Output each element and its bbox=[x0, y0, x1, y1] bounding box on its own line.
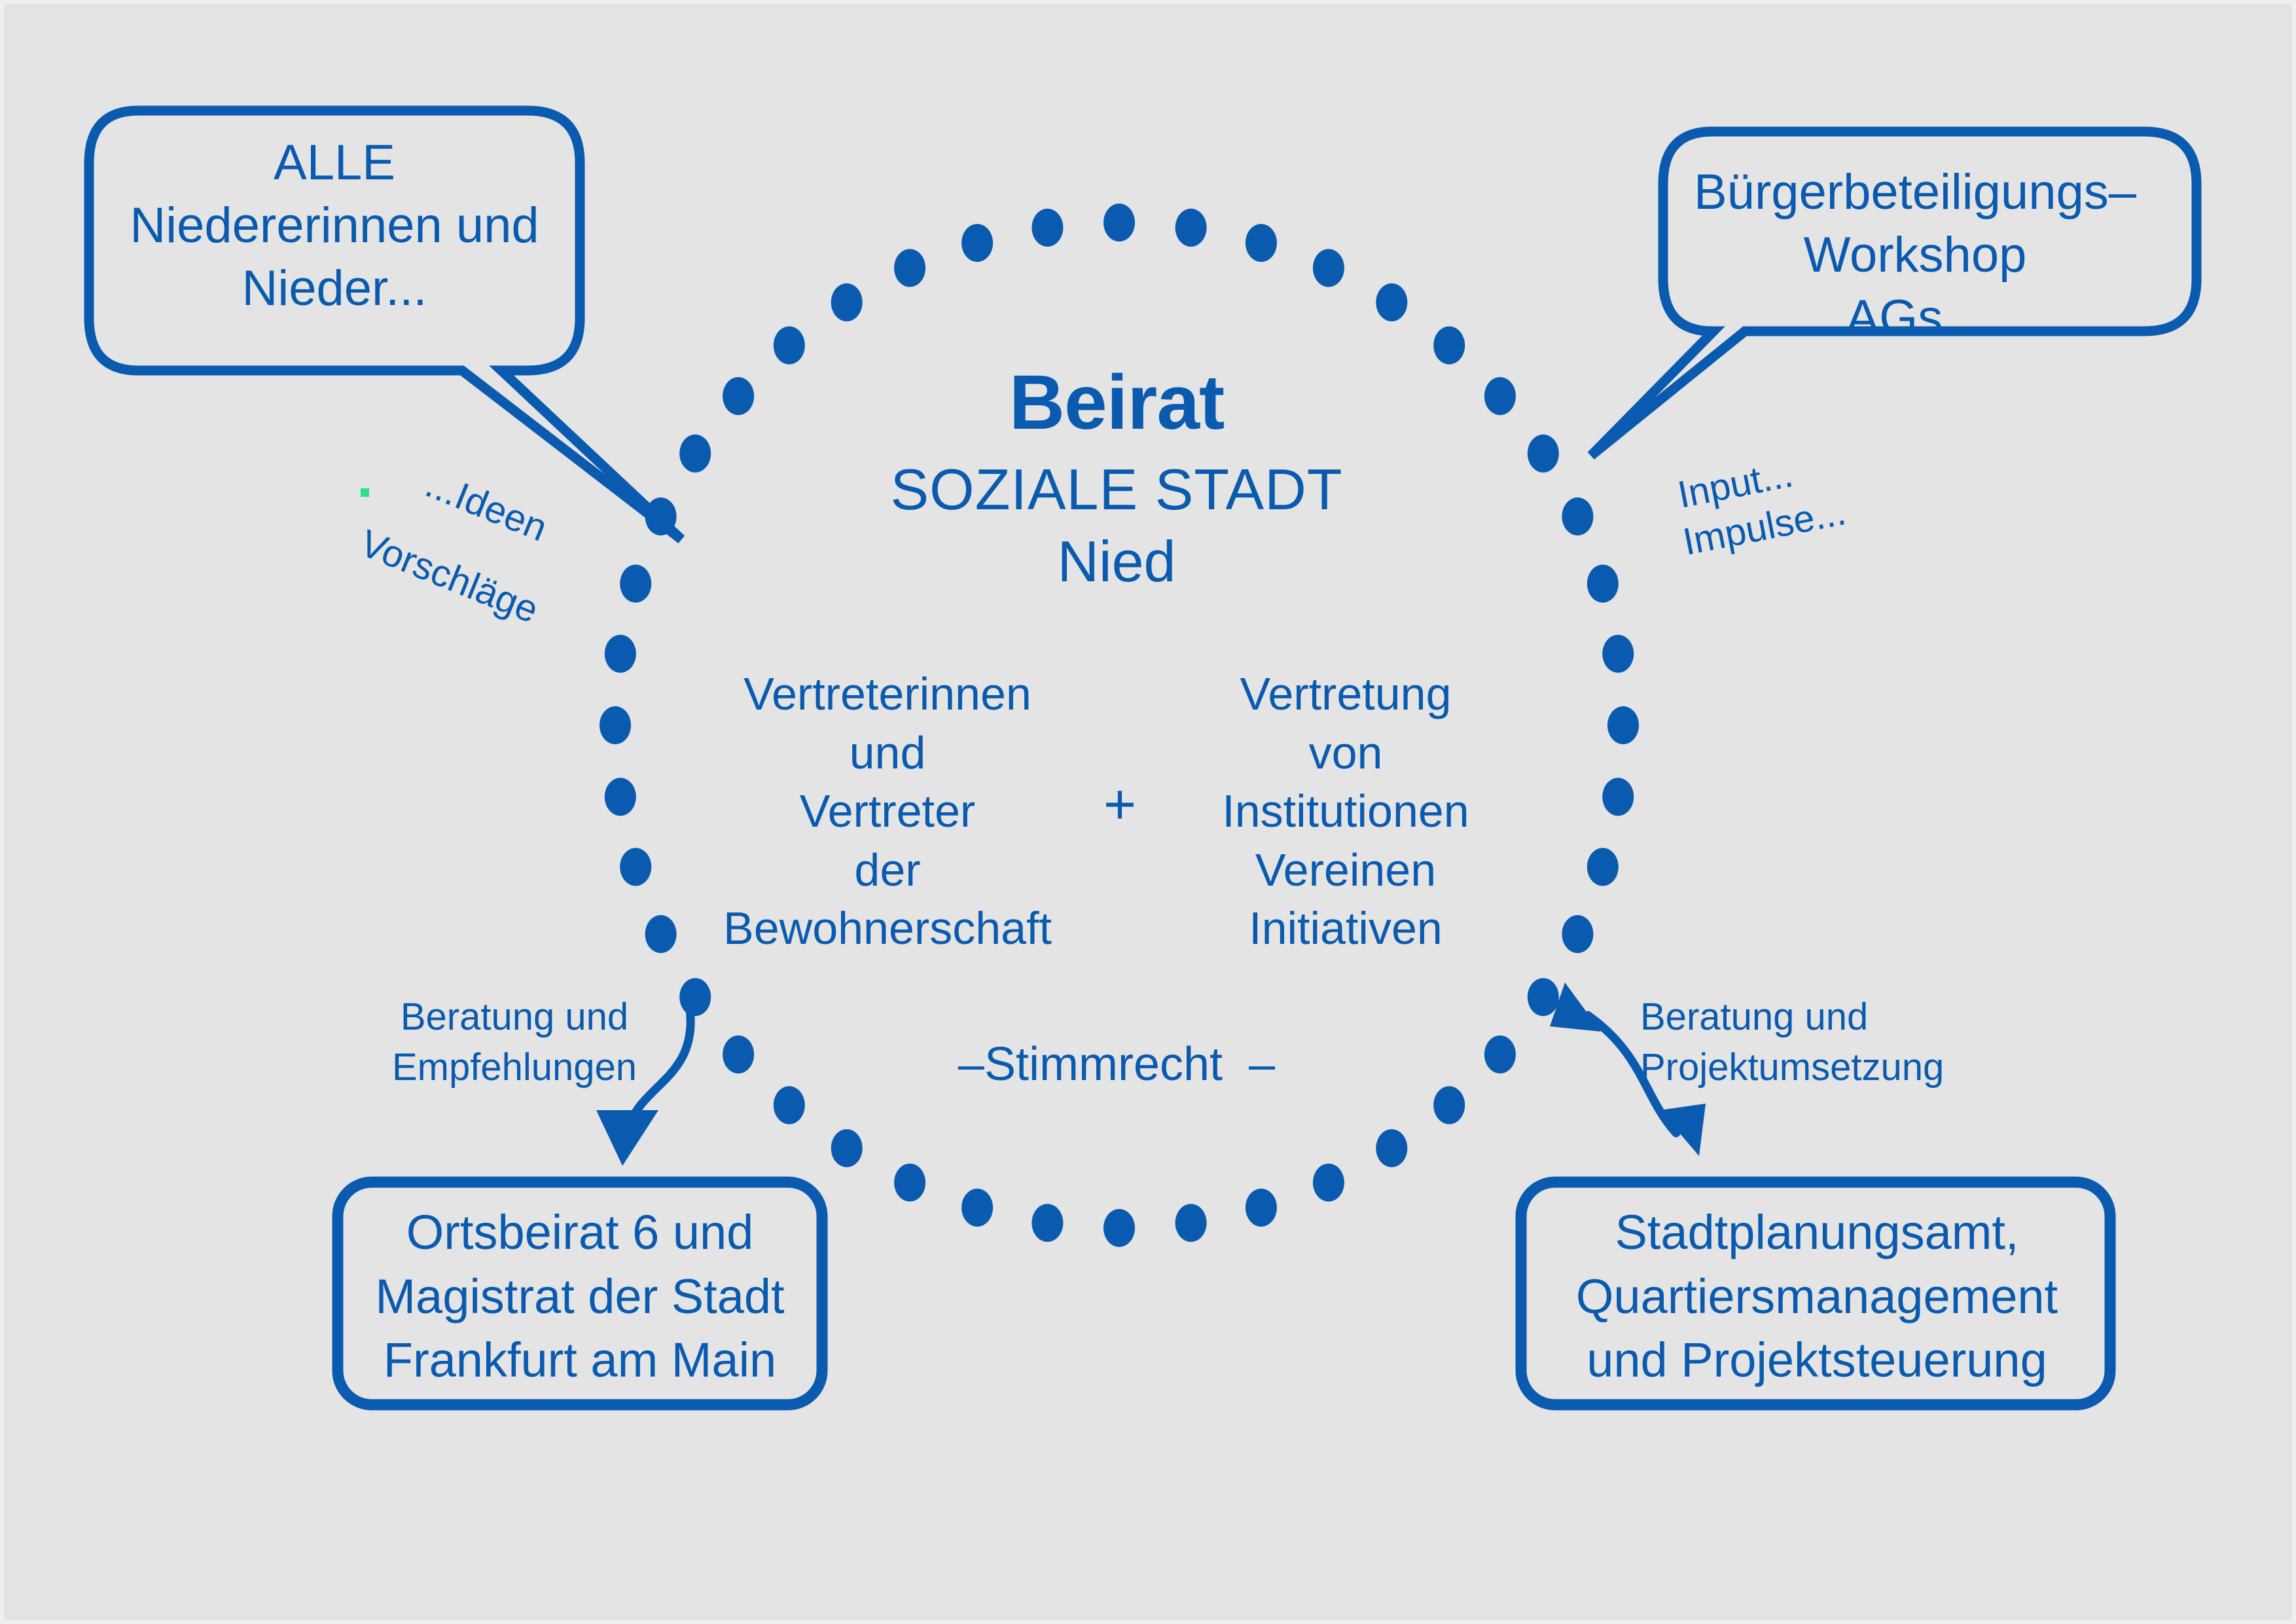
bubble-left-label: ALLE Niedererinnen und Nieder... bbox=[96, 132, 573, 319]
nied-label: Nied bbox=[724, 528, 1509, 596]
ring-dot bbox=[1313, 249, 1344, 287]
ring-dot bbox=[679, 435, 711, 473]
arrow-label-left: Beratung und Empfehlungen bbox=[331, 992, 698, 1092]
ring-dot bbox=[1562, 497, 1593, 535]
ring-dot bbox=[645, 915, 677, 953]
green-speck-artifact bbox=[361, 488, 369, 497]
box-left-label: Ortsbeirat 6 und Magistrat der Stadt Fra… bbox=[344, 1200, 816, 1392]
ring-dot bbox=[1313, 1164, 1344, 1202]
ring-dot bbox=[894, 1164, 925, 1202]
ring-dot bbox=[1602, 635, 1634, 673]
ring-dot bbox=[1103, 204, 1135, 242]
ring-dot bbox=[831, 1129, 863, 1167]
ring-dot bbox=[961, 224, 993, 262]
ring-dot bbox=[1562, 915, 1593, 953]
ring-dot bbox=[1528, 435, 1559, 473]
ring-dot bbox=[1031, 1204, 1063, 1242]
beirat-title: Beirat bbox=[724, 357, 1509, 448]
arrow-label-right: Beratung und Projektumsetzung bbox=[1640, 992, 2033, 1092]
ring-dot bbox=[1433, 1086, 1465, 1124]
stimmrecht-label: –Stimmrecht – bbox=[868, 1037, 1365, 1092]
ring-dot bbox=[1607, 706, 1639, 744]
ring-dot bbox=[1246, 1189, 1277, 1227]
box-right-label: Stadtplanungsamt, Quartiersmanagement un… bbox=[1529, 1200, 2105, 1392]
ring-dot bbox=[831, 283, 863, 321]
ring-dot bbox=[1376, 283, 1407, 321]
ring-dot bbox=[1031, 209, 1063, 247]
ring-dot bbox=[1587, 848, 1619, 886]
ring-dot bbox=[774, 1086, 805, 1124]
diagram-canvas: Beirat SOZIALE STADT Nied Vertreterinnen… bbox=[0, 0, 2296, 1624]
soziale-stadt-label: SOZIALE STADT bbox=[724, 456, 1509, 524]
column-institutionen: Vertretung von Institutionen Vereinen In… bbox=[1143, 665, 1549, 958]
ring-dot bbox=[894, 249, 925, 287]
ring-dot bbox=[1175, 209, 1207, 247]
ring-dot bbox=[1484, 1036, 1516, 1074]
ring-dot bbox=[1587, 565, 1619, 603]
column-bewohnerschaft: Vertreterinnen und Vertreter der Bewohne… bbox=[678, 665, 1097, 958]
ring-dot bbox=[1103, 1209, 1135, 1247]
ring-dot bbox=[1602, 778, 1634, 816]
ring-dot bbox=[961, 1189, 993, 1227]
ring-dot bbox=[1528, 978, 1559, 1016]
bubble-right-label: Bürgerbeteiligungs– Workshop AGs... bbox=[1679, 161, 2151, 349]
ring-dot bbox=[1246, 224, 1277, 262]
ring-dot bbox=[600, 706, 631, 744]
ring-dot bbox=[1175, 1204, 1207, 1242]
ring-dot bbox=[723, 1036, 754, 1074]
ring-dot bbox=[605, 778, 636, 816]
ring-dot bbox=[620, 848, 651, 886]
ring-dot bbox=[1376, 1129, 1407, 1167]
